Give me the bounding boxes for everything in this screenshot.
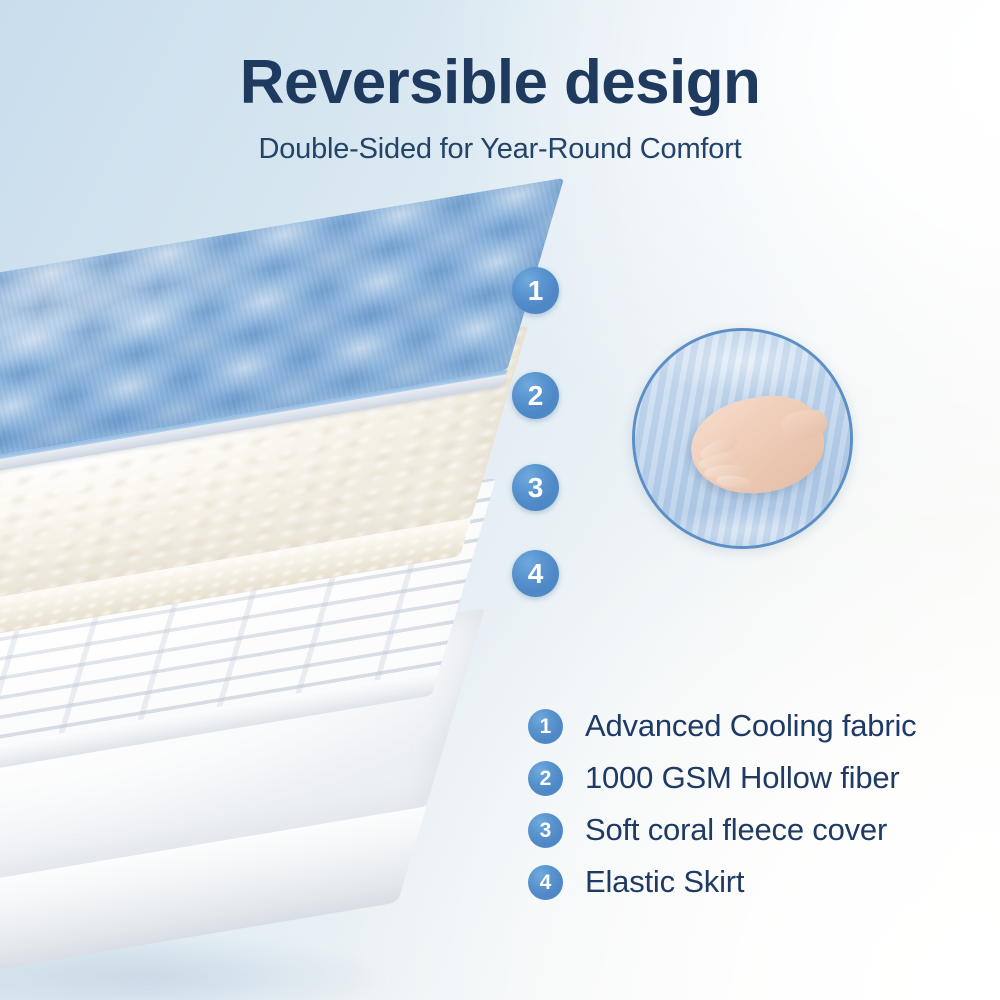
callout-badge-3[interactable]: 3 xyxy=(512,464,559,511)
callout-badge-2[interactable]: 2 xyxy=(512,372,559,419)
legend-label-1: Advanced Cooling fabric xyxy=(585,708,916,744)
list-item[interactable]: 2 1000 GSM Hollow fiber xyxy=(528,752,968,804)
list-item[interactable]: 1 Advanced Cooling fabric xyxy=(528,700,968,752)
legend-label-3: Soft coral fleece cover xyxy=(585,812,887,848)
callout-badge-1[interactable]: 1 xyxy=(512,267,559,314)
legend-label-2: 1000 GSM Hollow fiber xyxy=(585,760,900,796)
list-item[interactable]: 3 Soft coral fleece cover xyxy=(528,804,968,856)
infographic-canvas: Reversible design Double-Sided for Year-… xyxy=(0,0,1000,1000)
legend-badge-3: 3 xyxy=(528,813,563,848)
hand-press-inset-photo xyxy=(632,328,853,549)
feature-legend-list: 1 Advanced Cooling fabric 2 1000 GSM Hol… xyxy=(528,700,968,908)
legend-badge-4: 4 xyxy=(528,865,563,900)
list-item[interactable]: 4 Elastic Skirt xyxy=(528,856,968,908)
page-title: Reversible design xyxy=(0,52,1000,114)
legend-badge-1: 1 xyxy=(528,709,563,744)
legend-label-4: Elastic Skirt xyxy=(585,864,744,900)
legend-badge-2: 2 xyxy=(528,761,563,796)
page-subtitle: Double-Sided for Year-Round Comfort xyxy=(0,135,1000,164)
callout-badge-4[interactable]: 4 xyxy=(512,550,559,597)
hand-finger xyxy=(715,474,751,490)
hand-wrist xyxy=(779,406,829,442)
